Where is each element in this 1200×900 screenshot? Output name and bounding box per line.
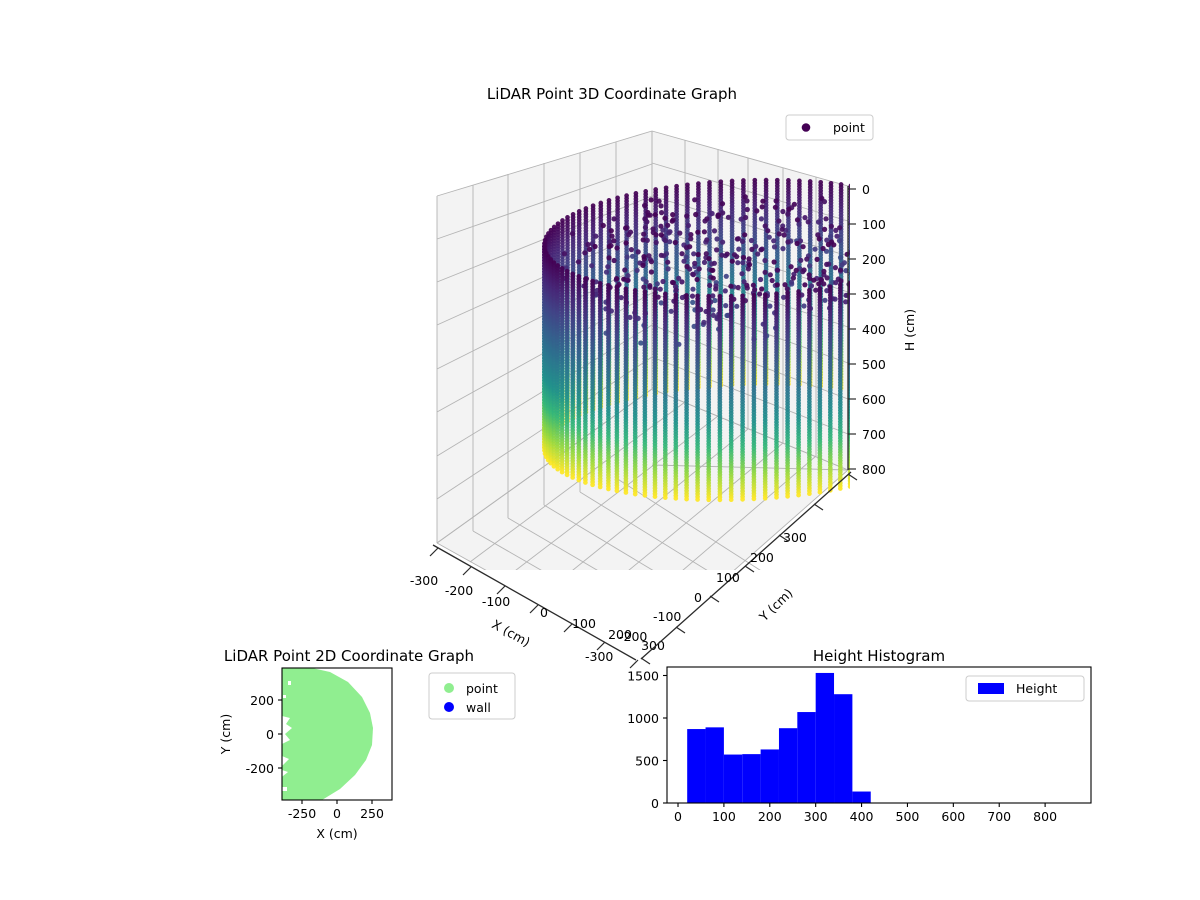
histogram-bar — [687, 729, 705, 803]
hist-xtick-label-4: 400 — [850, 809, 874, 824]
hist-xtick-label-1: 100 — [712, 809, 736, 824]
notch-d — [282, 787, 287, 791]
y-tick-5: -200 — [619, 629, 647, 644]
panel-2d-xtick-2: 250 — [360, 806, 384, 821]
panel-2d-xaxis-label: X (cm) — [316, 826, 357, 841]
y-tick-4: -100 — [653, 609, 681, 624]
hist-ytick-label-0: 0 — [651, 796, 659, 811]
histogram-bar — [834, 694, 852, 803]
panel-2d-xtick-1: 0 — [333, 806, 341, 821]
hist-xtick-label-5: 500 — [896, 809, 920, 824]
legend-hist[interactable]: Height — [966, 676, 1084, 701]
y-tick-6: -300 — [585, 649, 613, 664]
hist-ytick-label-3: 1500 — [627, 669, 659, 684]
histogram-bar — [852, 792, 870, 803]
z-tick-2: 200 — [862, 252, 886, 267]
panel-2d-ytick-1: 0 — [266, 727, 274, 742]
y-tick-0: 300 — [783, 530, 807, 545]
histogram-bar — [706, 727, 724, 803]
histogram-bar — [797, 712, 815, 803]
y-tick-3: 0 — [694, 590, 702, 605]
z-tick-7: 700 — [862, 427, 886, 442]
panel-2d-title: LiDAR Point 2D Coordinate Graph — [224, 647, 474, 665]
hist-ytick-label-2: 1000 — [627, 711, 659, 726]
x-tick-3: 0 — [540, 605, 548, 620]
hist-xtick-label-3: 300 — [804, 809, 828, 824]
z-tick-0: 0 — [862, 182, 870, 197]
panel-hist-title: Height Histogram — [813, 647, 945, 665]
y-tick-2: 100 — [716, 570, 740, 585]
histogram-bar — [761, 749, 779, 803]
notch-f — [283, 695, 286, 698]
panel-3d-title: LiDAR Point 3D Coordinate Graph — [487, 85, 737, 103]
z-tick-1: 100 — [862, 217, 886, 232]
legend-3d[interactable]: point — [786, 115, 873, 140]
x-tick-2: -100 — [482, 594, 510, 609]
legend-2d-point-label: point — [466, 681, 498, 696]
y-tick-1: 200 — [750, 550, 774, 565]
z-tick-8: 800 — [862, 462, 886, 477]
figure-canvas: LiDAR Point 3D Coordinate Graph — [0, 0, 1200, 900]
histogram-bar — [724, 755, 742, 803]
legend-3d-point-marker-icon — [802, 123, 811, 132]
z-tick-3: 300 — [862, 287, 886, 302]
legend-2d-wall-marker-icon — [444, 702, 454, 712]
panel-2d-yaxis-label: Y (cm) — [218, 714, 233, 755]
histogram-bar — [742, 754, 760, 803]
panel-2d-xtick-0: -250 — [288, 806, 316, 821]
hist-xtick-label-8: 800 — [1033, 809, 1057, 824]
z-tick-5: 500 — [862, 357, 886, 372]
hist-xtick-label-7: 700 — [987, 809, 1011, 824]
histogram-bar — [816, 673, 834, 803]
legend-3d-point-label: point — [833, 120, 865, 135]
matplotlib-figure: LiDAR Point 3D Coordinate Graph — [0, 0, 1200, 900]
legend-2d-wall-label: wall — [466, 700, 491, 715]
x-tick-0: -300 — [410, 573, 438, 588]
hist-xtick-label-6: 600 — [941, 809, 965, 824]
notch-e — [288, 681, 291, 685]
hist-xtick-label-0: 0 — [674, 809, 682, 824]
x-tick-1: -200 — [445, 583, 473, 598]
panel-2d-ytick-0: 200 — [250, 693, 274, 708]
legend-2d-point-marker-icon — [444, 683, 454, 693]
legend-hist-swatch-icon — [978, 683, 1004, 694]
z-axis-label: H (cm) — [902, 309, 917, 351]
panel-histogram: Height Histogram 01002003004005006007008… — [627, 647, 1091, 824]
legend-hist-label: Height — [1016, 681, 1057, 696]
histogram-bar — [779, 728, 797, 803]
x-tick-4: 100 — [572, 616, 596, 631]
legend-2d[interactable]: point wall — [429, 673, 515, 719]
hist-ytick-label-1: 500 — [635, 754, 659, 769]
z-tick-6: 600 — [862, 392, 886, 407]
panel-2d-ytick-2: -200 — [246, 761, 274, 776]
hist-xtick-label-2: 200 — [758, 809, 782, 824]
z-tick-4: 400 — [862, 322, 886, 337]
